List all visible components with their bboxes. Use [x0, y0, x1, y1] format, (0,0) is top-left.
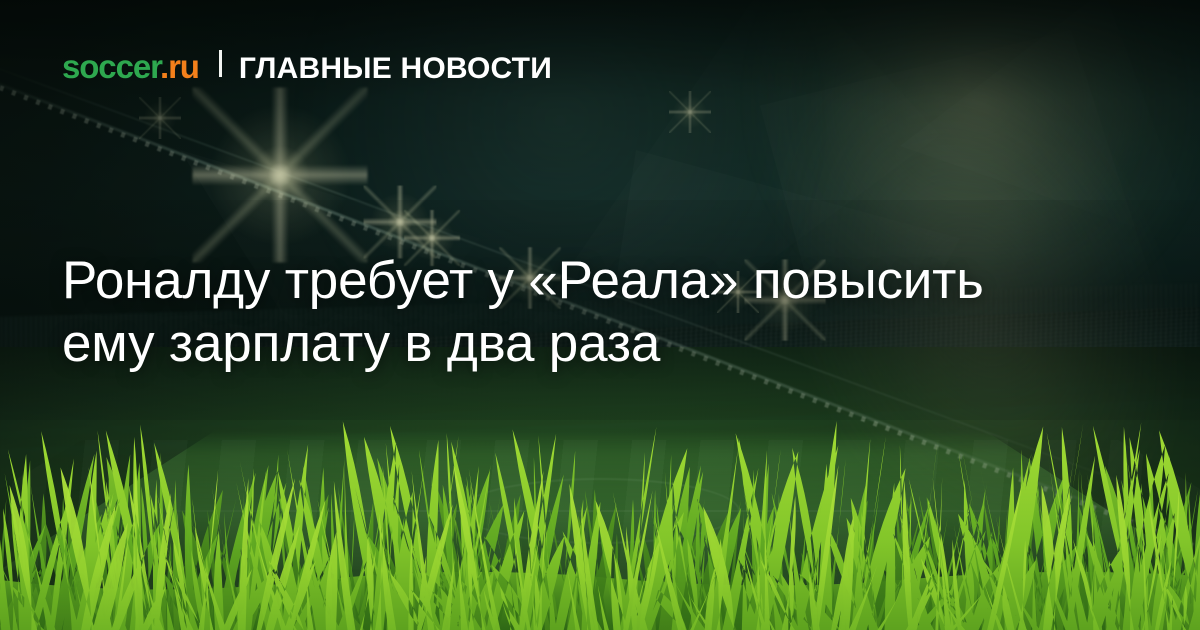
soccer-ru-logo[interactable]: soccer.ru [62, 50, 199, 83]
headline: Роналду требует у «Реала» повысить ему з… [62, 249, 1152, 375]
news-share-card: soccer.ru ГЛАВНЫЕ НОВОСТИ Роналду требуе… [0, 0, 1200, 630]
section-kicker: ГЛАВНЫЕ НОВОСТИ [239, 54, 552, 84]
logo-name-text: soccer [62, 48, 160, 85]
card-header: soccer.ru ГЛАВНЫЕ НОВОСТИ [62, 50, 552, 84]
header-separator [219, 50, 222, 77]
headline-line-2: ему зарплату в два раза [62, 312, 1152, 375]
logo-tld-text: .ru [160, 48, 199, 85]
grass-foreground [0, 380, 1200, 630]
headline-line-1: Роналду требует у «Реала» повысить [62, 249, 1152, 312]
